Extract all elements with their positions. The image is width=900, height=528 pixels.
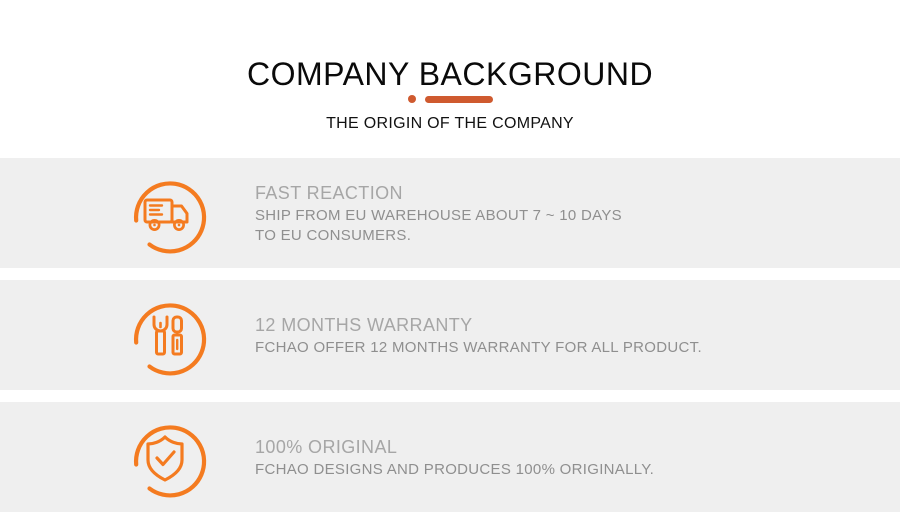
feature-title: FAST REACTION [255, 180, 622, 206]
feature-description: FCHAO DESIGNS AND PRODUCES 100% ORIGINAL… [255, 460, 654, 480]
feature-title: 100% ORIGINAL [255, 434, 654, 460]
feature-text-block: 100% ORIGINAL FCHAO DESIGNS AND PRODUCES… [255, 434, 654, 480]
page-header: COMPANY BACKGROUND THE ORIGIN OF THE COM… [0, 0, 900, 158]
wrench-screwdriver-icon [115, 285, 215, 385]
page-title: COMPANY BACKGROUND [0, 55, 900, 93]
feature-description: SHIP FROM EU WAREHOUSE ABOUT 7 ~ 10 DAYS… [255, 206, 622, 246]
page-subtitle: THE ORIGIN OF THE COMPANY [0, 113, 900, 135]
feature-row-warranty: 12 MONTHS WARRANTY FCHAO OFFER 12 MONTHS… [0, 280, 900, 390]
divider-dot-icon [408, 95, 416, 103]
feature-row-fast-reaction: FAST REACTION SHIP FROM EU WAREHOUSE ABO… [0, 158, 900, 268]
feature-list: FAST REACTION SHIP FROM EU WAREHOUSE ABO… [0, 158, 900, 512]
feature-description: FCHAO OFFER 12 MONTHS WARRANTY FOR ALL P… [255, 338, 702, 358]
feature-text-block: FAST REACTION SHIP FROM EU WAREHOUSE ABO… [255, 180, 622, 246]
delivery-truck-icon [115, 163, 215, 263]
feature-title: 12 MONTHS WARRANTY [255, 312, 702, 338]
title-divider [0, 93, 900, 105]
feature-text-block: 12 MONTHS WARRANTY FCHAO OFFER 12 MONTHS… [255, 312, 702, 358]
company-background-page: COMPANY BACKGROUND THE ORIGIN OF THE COM… [0, 0, 900, 528]
feature-row-original: 100% ORIGINAL FCHAO DESIGNS AND PRODUCES… [0, 402, 900, 512]
shield-check-icon [115, 407, 215, 507]
divider-bar-icon [425, 96, 493, 103]
